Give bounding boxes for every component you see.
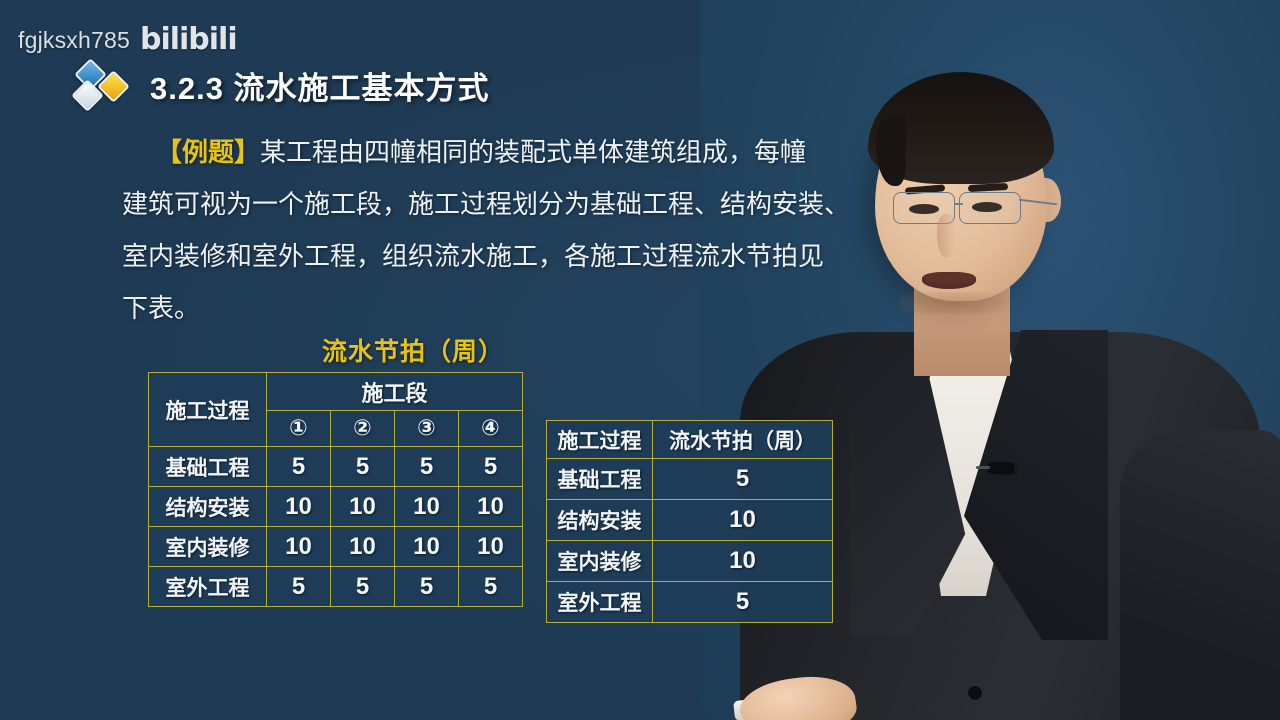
segments-table: 施工过程 施工段 ① ② ③ ④ 基础工程 5 5 5 5 结构安装 10 10… <box>148 372 523 607</box>
cell-value: 10 <box>331 487 395 527</box>
table-row: 基础工程 5 <box>547 459 833 500</box>
three-diamonds-logo-icon <box>72 62 134 108</box>
presenter-nose <box>937 214 957 258</box>
row-process-label: 基础工程 <box>149 447 267 487</box>
cell-value: 10 <box>653 541 833 582</box>
row-process-label: 室内装修 <box>547 541 653 582</box>
table-row: 基础工程 5 5 5 5 <box>149 447 523 487</box>
watermark-username: fgjksxh785 <box>18 27 130 54</box>
cell-value: 10 <box>459 487 523 527</box>
table-header-row: 施工过程 施工段 <box>149 373 523 411</box>
paragraph-line-2: 建筑可视为一个施工段，施工过程划分为基础工程、结构安装、 <box>122 180 912 228</box>
cell-value: 5 <box>653 459 833 500</box>
row-process-label: 基础工程 <box>547 459 653 500</box>
watermark: fgjksxh785 bilibili <box>18 26 237 54</box>
cell-value: 10 <box>653 500 833 541</box>
table-row: 结构安装 10 <box>547 500 833 541</box>
paragraph-line-1-text: 某工程由四幢相同的装配式单体建筑组成，每幢 <box>260 137 806 167</box>
presenter-chin-shadow <box>900 292 1010 314</box>
cell-value: 10 <box>267 487 331 527</box>
segment-label-3: ③ <box>395 411 459 447</box>
cell-value: 5 <box>331 567 395 607</box>
cell-value: 5 <box>459 447 523 487</box>
segment-label-4: ④ <box>459 411 523 447</box>
example-tag: 【例题】 <box>156 137 260 167</box>
cell-value: 10 <box>459 527 523 567</box>
cell-value: 10 <box>331 527 395 567</box>
header-rhythm: 流水节拍（周） <box>653 421 833 459</box>
lapel-microphone-icon <box>988 462 1014 474</box>
cell-value: 5 <box>653 582 833 623</box>
table-row: 室内装修 10 10 10 10 <box>149 527 523 567</box>
table-row: 室外工程 5 5 5 5 <box>149 567 523 607</box>
rhythm-table: 施工过程 流水节拍（周） 基础工程 5 结构安装 10 室内装修 10 室外工程… <box>546 420 833 623</box>
video-lecture-slide: fgjksxh785 bilibili 3.2.3 流水施工基本方式 【例题】某… <box>0 0 1280 720</box>
slide-header: 3.2.3 流水施工基本方式 <box>72 62 490 108</box>
paragraph-line-4: 下表。 <box>122 284 912 332</box>
row-process-label: 室外工程 <box>149 567 267 607</box>
row-process-label: 室内装修 <box>149 527 267 567</box>
page-title: 3.2.3 流水施工基本方式 <box>150 63 490 108</box>
paragraph-line-1: 【例题】某工程由四幢相同的装配式单体建筑组成，每幢 <box>122 128 912 176</box>
cell-value: 5 <box>267 567 331 607</box>
table-row: 室内装修 10 <box>547 541 833 582</box>
presenter-glasses <box>893 192 1051 226</box>
table-row: 结构安装 10 10 10 10 <box>149 487 523 527</box>
table-caption: 流水节拍（周） <box>322 332 504 368</box>
cell-value: 10 <box>395 527 459 567</box>
cell-value: 5 <box>395 567 459 607</box>
segment-label-1: ① <box>267 411 331 447</box>
header-process: 施工过程 <box>547 421 653 459</box>
presenter-mouth <box>922 272 976 289</box>
paragraph-line-3: 室内装修和室外工程，组织流水施工，各施工过程流水节拍见 <box>122 232 912 280</box>
bilibili-logo-text: bilibili <box>140 26 237 54</box>
table-header-row: 施工过程 流水节拍（周） <box>547 421 833 459</box>
cell-value: 10 <box>395 487 459 527</box>
row-process-label: 结构安装 <box>547 500 653 541</box>
header-process: 施工过程 <box>149 373 267 447</box>
cell-value: 5 <box>395 447 459 487</box>
cell-value: 5 <box>459 567 523 607</box>
presenter-arm-right <box>1120 430 1280 720</box>
segment-label-2: ② <box>331 411 395 447</box>
row-process-label: 室外工程 <box>547 582 653 623</box>
example-question-text: 【例题】某工程由四幢相同的装配式单体建筑组成，每幢 建筑可视为一个施工段，施工过… <box>122 128 912 336</box>
bilibili-logo-icon: bilibili <box>140 26 237 54</box>
cell-value: 5 <box>267 447 331 487</box>
header-segment-group: 施工段 <box>267 373 523 411</box>
suit-button <box>968 686 982 700</box>
cell-value: 10 <box>267 527 331 567</box>
row-process-label: 结构安装 <box>149 487 267 527</box>
table-row: 室外工程 5 <box>547 582 833 623</box>
glasses-lens-right <box>959 192 1021 224</box>
cell-value: 5 <box>331 447 395 487</box>
